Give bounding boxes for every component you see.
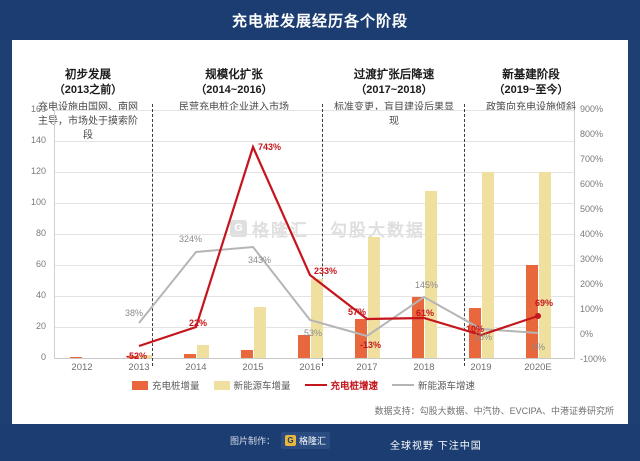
x-tick-2014: 2014 <box>174 362 218 373</box>
label-charger-2017: 57% <box>348 307 366 317</box>
label-charger-2019: -10% <box>463 324 484 334</box>
legend-line-icon <box>305 384 327 386</box>
legend-swatch-icon <box>214 381 230 390</box>
legend-item-nev-bar: 新能源车增量 <box>214 378 291 392</box>
label-nev-2017: -13% <box>360 340 381 350</box>
footer-slogan: 全球视野 下注中国 <box>390 437 482 452</box>
x-tick-2012: 2012 <box>60 362 104 373</box>
label-charger-2018: 61% <box>416 308 434 318</box>
x-tick-2015: 2015 <box>231 362 275 373</box>
charger-growth-line <box>139 147 538 346</box>
legend-label: 新能源车增速 <box>418 378 475 392</box>
charger-growth-endpoint <box>535 313 541 319</box>
source-note: 数据支持：勾股大数据、中汽协、EVCIPA、中港证券研究所 <box>375 404 614 417</box>
label-charger-2020E: 69% <box>535 298 553 308</box>
brand-logo: G 格隆汇 <box>281 432 330 449</box>
chart-panel: 初步发展 （2013之前） 充电设施由国网、南网主导，市场处于摸索阶段 规模化扩… <box>12 40 628 424</box>
label-charger-2015: 743% <box>258 142 281 152</box>
label-charger-2014: 22% <box>189 318 207 328</box>
brand-logo-letter: G <box>285 435 296 446</box>
bottom-bar: 图片制作： G 格隆汇 全球视野 下注中国 <box>0 424 640 461</box>
label-nev-2018: 145% <box>415 280 438 290</box>
label-nev-2015: 343% <box>248 255 271 265</box>
x-tick-2016: 2016 <box>288 362 332 373</box>
label-charger-2016: 233% <box>314 266 337 276</box>
x-tick-2017: 2017 <box>345 362 389 373</box>
legend-line-icon <box>392 384 414 386</box>
x-tick-2013: 2013 <box>117 362 161 373</box>
x-tick-2020E: 2020E <box>516 362 560 373</box>
x-tick-2018: 2018 <box>402 362 446 373</box>
chart-screenshot: 充电桩发展经历各个阶段 初步发展 （2013之前） 充电设施由国网、南网主导，市… <box>0 0 640 461</box>
legend-label: 充电桩增速 <box>331 378 379 392</box>
page-title: 充电桩发展经历各个阶段 <box>0 10 640 31</box>
plot-area: 160 140 120 100 80 60 40 20 0 900% 800% … <box>12 40 628 424</box>
legend-item-nev-line: 新能源车增速 <box>392 378 475 392</box>
label-nev-2014: 324% <box>179 234 202 244</box>
label-charger-2013: -52% <box>126 351 147 361</box>
label-nev-2020E: 0% <box>532 342 545 352</box>
label-nev-2016: 53% <box>304 328 322 338</box>
chart-legend: 充电桩增量 新能源车增量 充电桩增速 新能源车增速 <box>132 378 475 392</box>
brand-logo-text: 格隆汇 <box>299 434 326 447</box>
legend-item-charger-bar: 充电桩增量 <box>132 378 200 392</box>
legend-label: 新能源车增量 <box>234 378 291 392</box>
legend-label: 充电桩增量 <box>152 378 200 392</box>
credit-block: 图片制作： G 格隆汇 <box>230 432 330 449</box>
legend-item-charger-line: 充电桩增速 <box>305 378 379 392</box>
label-nev-2013: 38% <box>125 308 143 318</box>
title-bar: 充电桩发展经历各个阶段 <box>0 0 640 40</box>
x-tick-2019: 2019 <box>459 362 503 373</box>
credit-label: 图片制作： <box>230 434 275 447</box>
legend-swatch-icon <box>132 381 148 390</box>
